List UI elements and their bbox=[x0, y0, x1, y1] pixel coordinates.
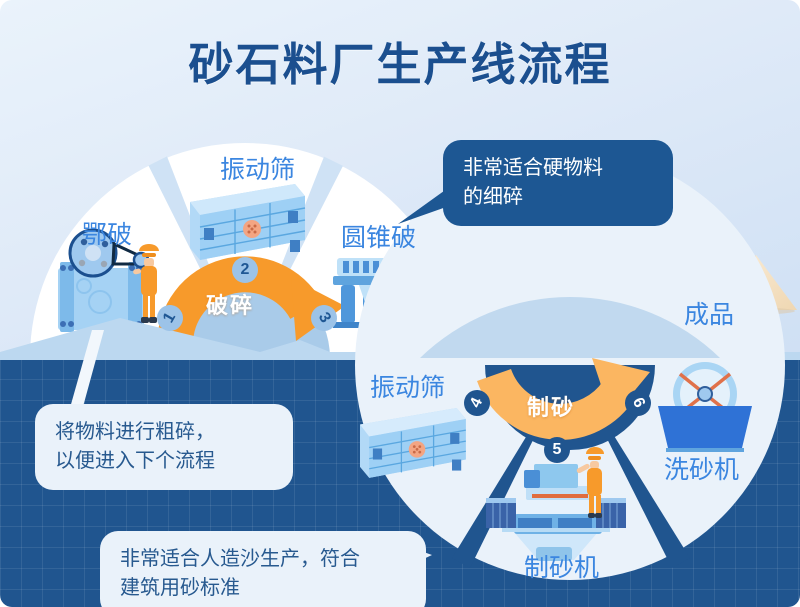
callout-jaw-crusher: 将物料进行粗碎， 以便进入下个流程 bbox=[35, 404, 293, 490]
step-label-vibrating-screen-top: 振动筛 bbox=[220, 150, 295, 186]
step-label-cone-crusher: 圆锥破 bbox=[341, 218, 416, 254]
product-label: 成品 bbox=[684, 295, 734, 331]
infographic-canvas: 砂石料厂生产线流程 鄂破 振动筛 圆锥破 振动筛 制砂机 洗砂机 成品 破碎 制… bbox=[0, 0, 800, 607]
step-label-vibrating-screen-bottom: 振动筛 bbox=[370, 368, 445, 404]
sandmaking-arc-label: 制砂 bbox=[527, 390, 575, 422]
page-title: 砂石料厂生产线流程 bbox=[0, 28, 800, 93]
callout-sand-machine: 非常适合人造沙生产，符合 建筑用砂标准 bbox=[100, 531, 426, 607]
step-label-sand-making-machine: 制砂机 bbox=[524, 548, 599, 584]
step-label-jaw-crusher: 鄂破 bbox=[82, 215, 132, 251]
step-badge-5[interactable]: 5 bbox=[544, 437, 570, 463]
step-label-sand-washer: 洗砂机 bbox=[664, 450, 739, 486]
callout-cone-crusher: 非常适合硬物料 的细碎 bbox=[443, 140, 673, 226]
step-badge-2[interactable]: 2 bbox=[232, 257, 258, 283]
crushing-arc-label: 破碎 bbox=[206, 288, 254, 320]
